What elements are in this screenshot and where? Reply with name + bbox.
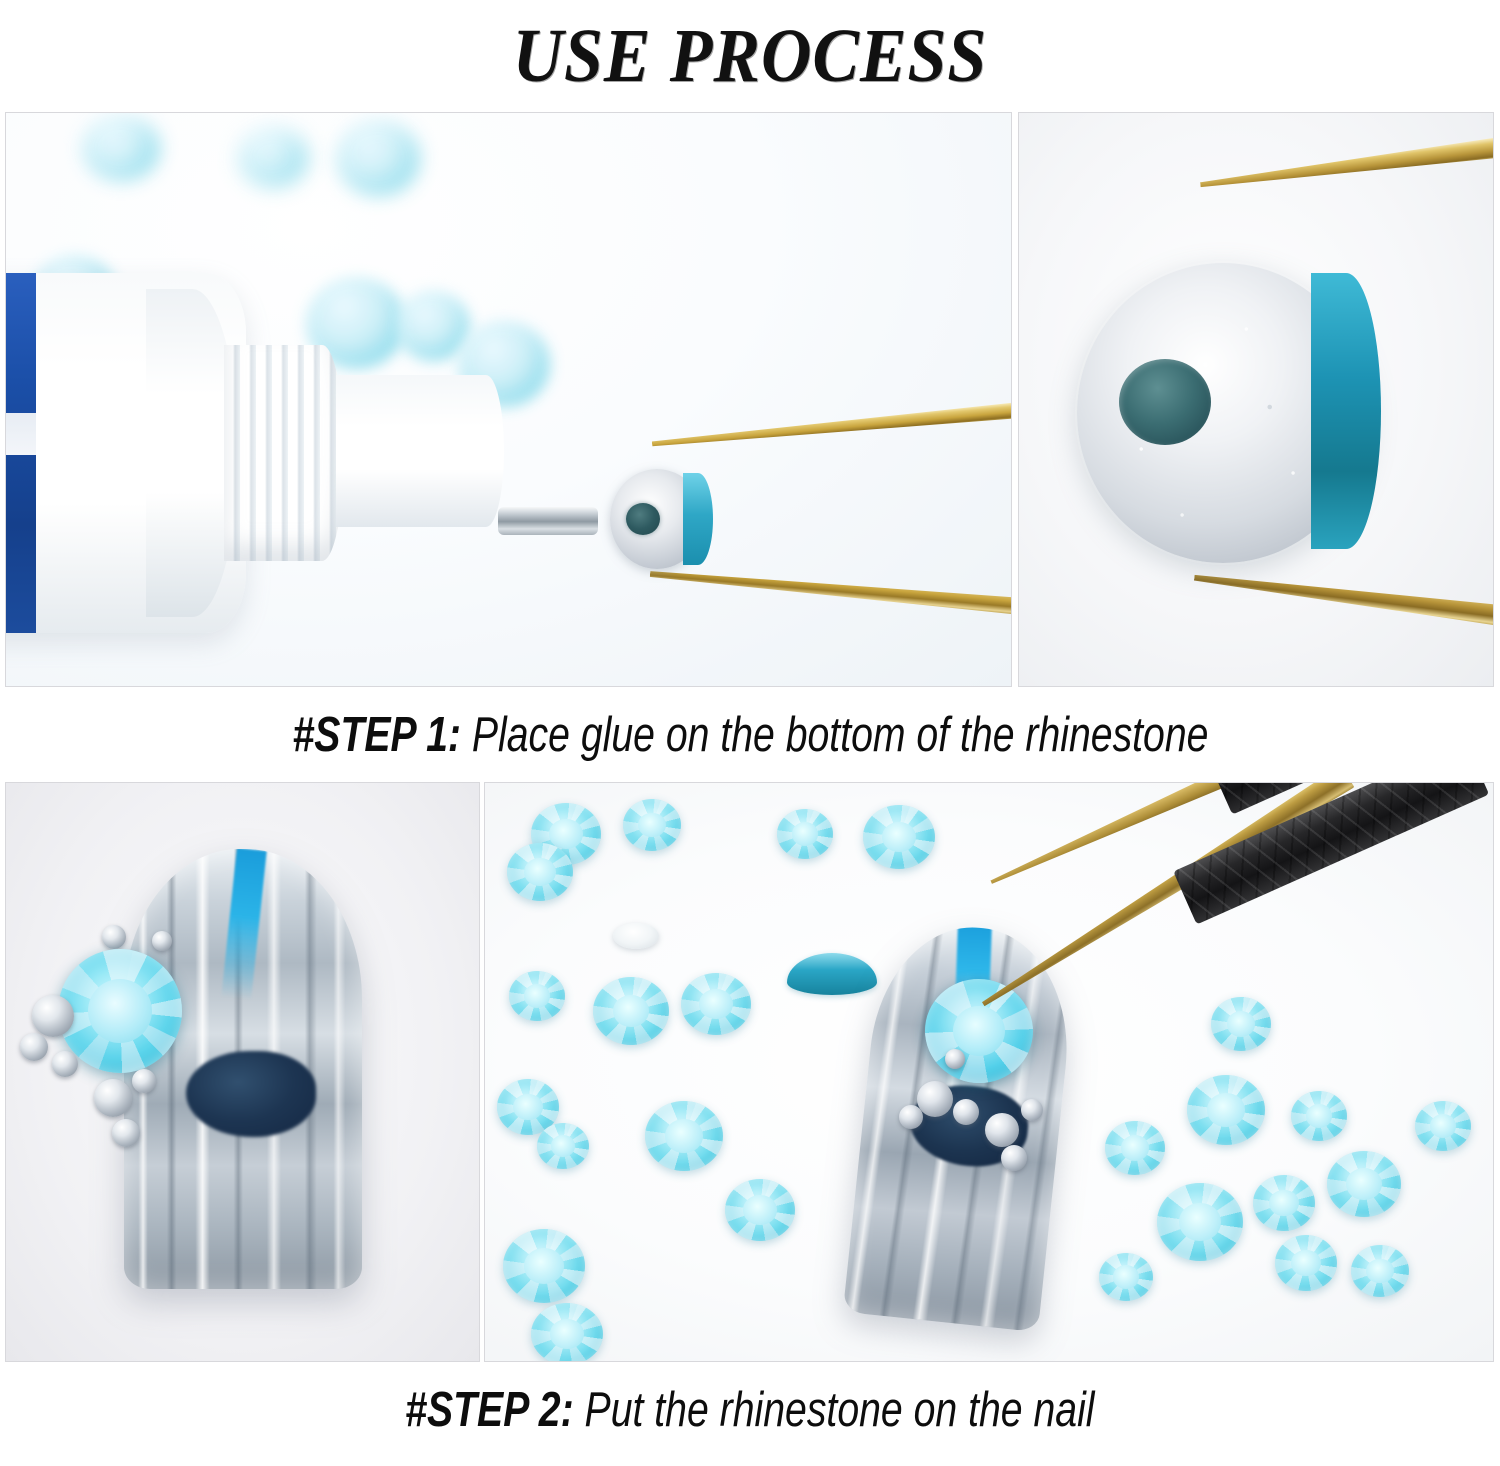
- loose-rhinestone: [1253, 1175, 1315, 1231]
- loose-rhinestone: [863, 805, 935, 869]
- loose-rhinestone: [623, 799, 681, 851]
- loose-rhinestone: [725, 1179, 795, 1241]
- silver-bead: [102, 925, 126, 949]
- silver-bead: [32, 995, 74, 1037]
- loose-rhinestone: [503, 1229, 585, 1303]
- rhinestone-foil-back: [610, 469, 704, 569]
- glue-bottle-blue-label: [5, 273, 36, 633]
- page-header: USE PROCESS: [0, 0, 1500, 112]
- silver-bead: [917, 1081, 953, 1117]
- silver-bead: [132, 1069, 156, 1093]
- loose-rhinestone: [1187, 1075, 1265, 1145]
- silver-bead: [112, 1119, 140, 1147]
- bokeh-rhinestone: [238, 127, 308, 187]
- glue-application-photo: [5, 112, 1012, 687]
- step-1-image-row: [0, 112, 1500, 687]
- rhinestone-back-macro-photo: [1018, 112, 1494, 687]
- loose-rhinestone: [507, 843, 573, 901]
- loose-rhinestone: [1327, 1151, 1401, 1217]
- step-1-text: Place glue on the bottom of the rhinesto…: [461, 708, 1208, 762]
- rhinestone-flat-back: [613, 923, 659, 949]
- glue-bottle-threaded-neck: [224, 345, 344, 561]
- loose-rhinestone: [1105, 1121, 1165, 1175]
- loose-rhinestone: [777, 809, 833, 859]
- glue-bottle-nozzle: [336, 375, 504, 527]
- silver-bead: [1021, 1099, 1043, 1121]
- step-1-caption: #STEP 1: Place glue on the bottom of the…: [0, 687, 1500, 782]
- loose-rhinestone: [1351, 1245, 1409, 1297]
- page-title: USE PROCESS: [513, 13, 988, 100]
- step-2-label: #STEP 2:: [405, 1383, 573, 1437]
- silver-bead: [953, 1099, 979, 1125]
- step-1-label: #STEP 1:: [292, 708, 460, 762]
- step-2-image-row: [0, 782, 1500, 1362]
- silver-bead: [94, 1079, 132, 1117]
- glue-dot: [1119, 359, 1211, 445]
- step-2-caption: #STEP 2: Put the rhinestone on the nail: [0, 1362, 1500, 1457]
- glue-bottle-metal-tip: [498, 507, 598, 535]
- silver-bead: [985, 1113, 1019, 1147]
- loose-rhinestone: [593, 977, 669, 1045]
- finished-nail-photo: [5, 782, 480, 1362]
- silver-bead: [52, 1051, 78, 1077]
- step-2-text: Put the rhinestone on the nail: [574, 1383, 1095, 1437]
- loose-rhinestone: [645, 1101, 723, 1171]
- loose-rhinestone: [1157, 1183, 1243, 1261]
- bokeh-rhinestone: [336, 120, 420, 196]
- silver-bead: [152, 931, 172, 951]
- large-aqua-rhinestone: [58, 949, 182, 1073]
- rhinestone-foil-back: [1077, 263, 1369, 563]
- silver-bead: [945, 1049, 965, 1069]
- loose-rhinestone: [1275, 1235, 1337, 1291]
- navy-accent-patch: [186, 1051, 316, 1137]
- loose-rhinestone: [537, 1123, 589, 1169]
- loose-rhinestone: [1415, 1101, 1471, 1151]
- press-on-nail: [124, 849, 362, 1289]
- loose-rhinestone: [1291, 1091, 1347, 1141]
- rhinestone-aqua-rim: [1311, 273, 1381, 549]
- loose-rhinestone: [681, 973, 751, 1035]
- loose-rhinestone: [1211, 997, 1271, 1051]
- press-on-nail: [843, 918, 1079, 1332]
- silver-bead: [899, 1105, 923, 1129]
- loose-rhinestone: [531, 1303, 603, 1362]
- loose-rhinestone: [509, 971, 565, 1021]
- bokeh-rhinestone: [396, 291, 470, 361]
- placing-rhinestone-photo: [484, 782, 1494, 1362]
- silver-bead: [1001, 1145, 1027, 1171]
- bokeh-rhinestone: [82, 115, 160, 181]
- loose-rhinestone: [1099, 1253, 1153, 1301]
- silver-bead: [20, 1033, 48, 1061]
